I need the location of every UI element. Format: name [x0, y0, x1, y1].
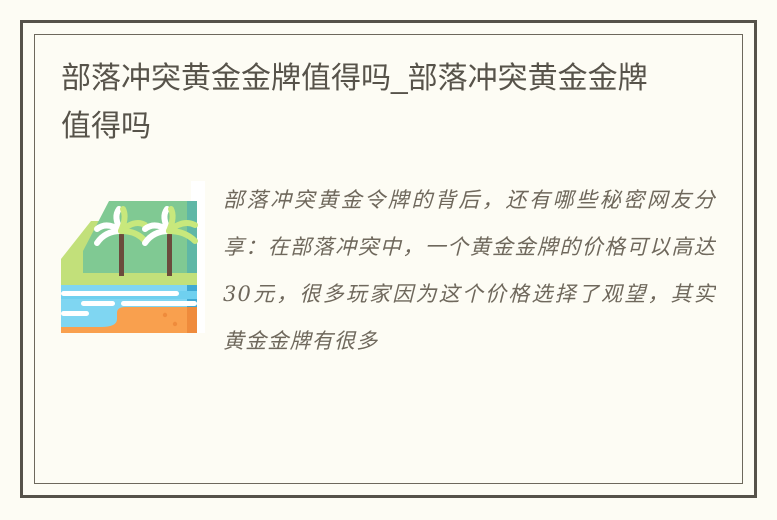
article-content: 部落冲突黄金金牌值得吗_部落冲突黄金金牌值得吗 — [35, 35, 742, 483]
outer-decorative-frame: 部落冲突黄金金牌值得吗_部落冲突黄金金牌值得吗 — [20, 20, 757, 498]
inner-decorative-frame: 部落冲突黄金金牌值得吗_部落冲突黄金金牌值得吗 — [34, 34, 743, 484]
article-body: 部落冲突黄金令牌的背后，还有哪些秘密网友分享：在部落冲突中，一个黄金金牌的价格可… — [61, 177, 716, 365]
article-body-text: 部落冲突黄金令牌的背后，还有哪些秘密网友分享：在部落冲突中，一个黄金金牌的价格可… — [223, 177, 716, 365]
tropical-beach-illustration-icon — [61, 181, 205, 333]
page-title: 部落冲突黄金金牌值得吗_部落冲突黄金金牌值得吗 — [61, 55, 661, 151]
page-root: 部落冲突黄金金牌值得吗_部落冲突黄金金牌值得吗 — [0, 0, 777, 520]
